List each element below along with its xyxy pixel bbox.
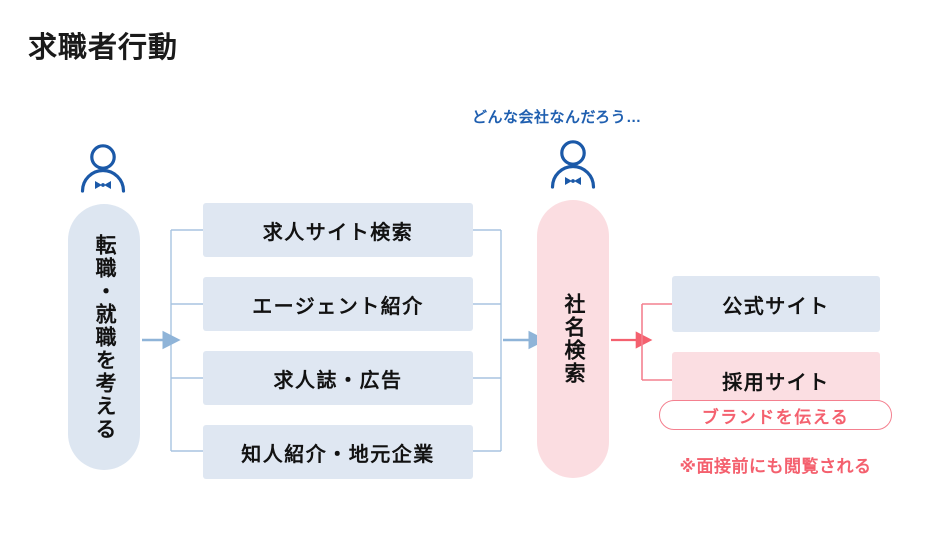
brand-message-label: ブランドを伝える (702, 403, 850, 428)
jobseeker-center-icon (546, 137, 600, 196)
right-bracket-connector (473, 230, 501, 451)
person-icon (546, 137, 600, 191)
channel-box-job-site-search[interactable]: 求人サイト検索 (203, 203, 473, 257)
channel-label: 知人紹介・地元企業 (241, 438, 435, 467)
page-title: 求職者行動 (28, 24, 178, 66)
diagram-canvas: 求職者行動 (0, 0, 941, 550)
stage-consider-label: 転職・就職を考える (93, 234, 115, 441)
channel-box-agent-referral[interactable]: エージェント紹介 (203, 277, 473, 331)
stage-company-search-label: 社名検索 (562, 293, 584, 385)
channel-label: エージェント紹介 (252, 290, 424, 319)
site-bracket-connector (642, 304, 672, 380)
site-label: 公式サイト (722, 290, 830, 319)
channel-label: 求人誌・広告 (274, 364, 403, 393)
footnote-note: ※面接前にも閲覧される (659, 452, 892, 477)
site-label: 採用サイト (722, 366, 830, 395)
jobseeker-left-icon (76, 141, 130, 200)
stage-consider-job-change[interactable]: 転職・就職を考える (68, 204, 140, 470)
channel-label: 求人サイト検索 (263, 216, 414, 245)
site-box-official-site[interactable]: 公式サイト (672, 276, 880, 332)
brand-message-pill: ブランドを伝える (659, 400, 892, 430)
channel-box-acquaintance-local-company[interactable]: 知人紹介・地元企業 (203, 425, 473, 479)
stage-company-name-search[interactable]: 社名検索 (537, 200, 609, 478)
left-bracket-connector (171, 230, 203, 451)
thought-caption: どんな会社なんだろう… (472, 106, 642, 127)
person-icon (76, 141, 130, 195)
channel-box-job-magazine-ads[interactable]: 求人誌・広告 (203, 351, 473, 405)
